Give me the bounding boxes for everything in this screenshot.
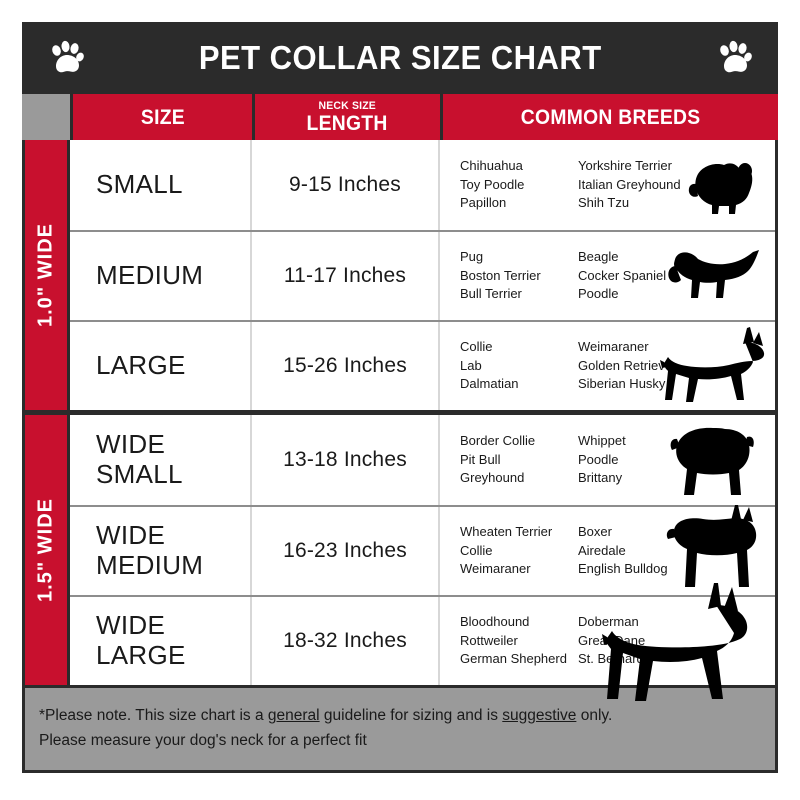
cell-neck-length: 18-32 Inches [252, 597, 440, 685]
breed-column-a: Bloodhound Rottweiler German Shepherd [460, 613, 578, 668]
group-label-1-0-wide: 1.0" WIDE [25, 140, 70, 410]
paw-print-icon [46, 38, 86, 78]
cell-neck-length: 9-15 Inches [252, 140, 440, 230]
breed-item: Shih Tzu [578, 194, 708, 212]
cell-common-breeds: Collie Lab Dalmatian Weimaraner Golden R… [440, 322, 775, 410]
breed-item: German Shepherd [460, 650, 578, 668]
footer-underline-general: general [268, 707, 320, 724]
size-label-line2: LARGE [96, 641, 186, 671]
cell-size: WIDE MEDIUM [70, 507, 252, 595]
breed-item: Collie [460, 542, 578, 560]
breed-item: Greyhound [460, 469, 578, 487]
cell-size: LARGE [70, 322, 252, 410]
breed-item: Wheaten Terrier [460, 523, 578, 541]
breed-item: Boston Terrier [460, 267, 578, 285]
cell-size: SMALL [70, 140, 252, 230]
table-row: MEDIUM 11-17 Inches Pug Boston Terrier B… [70, 230, 775, 320]
breed-column-a: Chihuahua Toy Poodle Papillon [460, 157, 578, 212]
table-row: WIDE SMALL 13-18 Inches Border Collie Pi… [70, 415, 775, 505]
breed-item: Dalmatian [460, 375, 578, 393]
table-row: LARGE 15-26 Inches Collie Lab Dalmatian … [70, 320, 775, 410]
cell-common-breeds: Border Collie Pit Bull Greyhound Whippet… [440, 415, 775, 505]
cell-size: WIDE SMALL [70, 415, 252, 505]
size-label: LARGE [96, 351, 186, 381]
footer-underline-suggestive: suggestive [502, 707, 576, 724]
paw-print-icon [714, 38, 754, 78]
breed-item: Pug [460, 248, 578, 266]
breed-item: Collie [460, 338, 578, 356]
group-label-text: 1.5" WIDE [35, 498, 58, 602]
breed-item: Toy Poodle [460, 176, 578, 194]
breed-item: Italian Greyhound [578, 176, 708, 194]
size-label-line2: MEDIUM [96, 551, 203, 581]
cell-neck-length: 15-26 Inches [252, 322, 440, 410]
footer-line-2: Please measure your dog's neck for a per… [39, 729, 775, 754]
breed-item: Brittany [578, 469, 708, 487]
group-label-text: 1.0" WIDE [35, 223, 58, 327]
group-label-1-5-wide: 1.5" WIDE [25, 415, 70, 685]
breed-column-a: Border Collie Pit Bull Greyhound [460, 432, 578, 487]
breed-item: Bull Terrier [460, 285, 578, 303]
breed-item: Papillon [460, 194, 578, 212]
footer-text-b: guideline for sizing and is [320, 707, 503, 724]
cell-common-breeds: Pug Boston Terrier Bull Terrier Beagle C… [440, 232, 775, 320]
breed-item: Poodle [578, 451, 708, 469]
breed-column-b: Beagle Cocker Spaniel Poodle [578, 248, 708, 303]
breed-item: English Bulldog [578, 560, 708, 578]
breed-item: Boxer [578, 523, 708, 541]
breed-item: Rottweiler [460, 632, 578, 650]
header-cell-length: NECK SIZE LENGTH [252, 94, 440, 140]
breed-column-b: Boxer Airedale English Bulldog [578, 523, 708, 578]
breed-item: Pit Bull [460, 451, 578, 469]
size-label-line1: WIDE [96, 521, 165, 551]
header-size-label: SIZE [140, 107, 184, 128]
breed-column-a: Pug Boston Terrier Bull Terrier [460, 248, 578, 303]
header-neck-size-sublabel: NECK SIZE [319, 101, 376, 112]
size-label: MEDIUM [96, 261, 203, 291]
breed-item: Weimaraner [460, 560, 578, 578]
breed-column-a: Wheaten Terrier Collie Weimaraner [460, 523, 578, 578]
cell-neck-length: 11-17 Inches [252, 232, 440, 320]
breed-item: Siberian Husky [578, 375, 708, 393]
header-cell-breeds: COMMON BREEDS [440, 94, 778, 140]
footer-text-a: *Please note. This size chart is a [39, 707, 268, 724]
table-header-row: SIZE NECK SIZE LENGTH COMMON BREEDS [22, 94, 778, 140]
table-row: SMALL 9-15 Inches Chihuahua Toy Poodle P… [70, 140, 775, 230]
breed-item: Lab [460, 357, 578, 375]
breed-item: Cocker Spaniel [578, 267, 708, 285]
breed-item: Whippet [578, 432, 708, 450]
breed-column-a: Collie Lab Dalmatian [460, 338, 578, 393]
breed-item: Golden Retriever [578, 357, 708, 375]
cell-size: WIDE LARGE [70, 597, 252, 685]
breed-column-b: Weimaraner Golden Retriever Siberian Hus… [578, 338, 708, 393]
cell-common-breeds: Chihuahua Toy Poodle Papillon Yorkshire … [440, 140, 775, 230]
cell-neck-length: 13-18 Inches [252, 415, 440, 505]
chart-title-bar: PET COLLAR SIZE CHART [22, 22, 778, 94]
breed-item: Airedale [578, 542, 708, 560]
breed-item: Bloodhound [460, 613, 578, 631]
breed-item: Poodle [578, 285, 708, 303]
header-cell-size: SIZE [70, 94, 252, 140]
cell-neck-length: 16-23 Inches [252, 507, 440, 595]
breed-item: Beagle [578, 248, 708, 266]
breed-item: Weimaraner [578, 338, 708, 356]
size-label-line1: WIDE [96, 611, 165, 641]
breed-item: Chihuahua [460, 157, 578, 175]
breed-item: Yorkshire Terrier [578, 157, 708, 175]
breed-column-b: Whippet Poodle Brittany [578, 432, 708, 487]
breed-column-b: Yorkshire Terrier Italian Greyhound Shih… [578, 157, 708, 212]
size-label-line2: SMALL [96, 460, 183, 490]
page-title: PET COLLAR SIZE CHART [199, 39, 602, 77]
header-corner-cell [22, 94, 70, 140]
size-label: SMALL [96, 170, 183, 200]
doberman-dog-silhouette [602, 581, 752, 714]
breed-item: Border Collie [460, 432, 578, 450]
size-label-line1: WIDE [96, 430, 165, 460]
size-group-1-0-wide: 1.0" WIDE SMALL 9-15 Inches Chihuahua To… [25, 140, 775, 410]
cell-size: MEDIUM [70, 232, 252, 320]
header-length-label: LENGTH [307, 113, 388, 134]
header-breeds-label: COMMON BREEDS [521, 107, 701, 128]
pet-collar-size-chart: PET COLLAR SIZE CHART SIZE NECK SIZE LEN… [22, 22, 778, 778]
